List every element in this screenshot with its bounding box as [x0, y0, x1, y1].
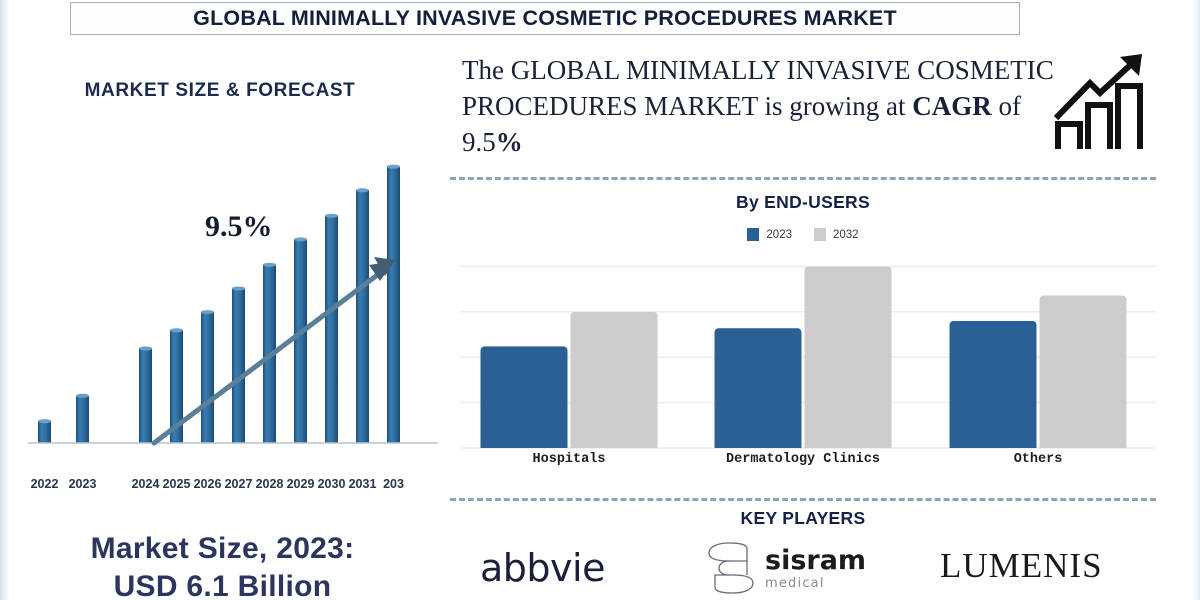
forecast-bar	[76, 396, 89, 443]
cagr-badge: 9.5%	[205, 210, 273, 244]
infographic-canvas: GLOBAL MINIMALLY INVASIVE COSMETIC PROCE…	[0, 0, 1200, 600]
legend-label: 2032	[833, 229, 859, 241]
key-players-heading: KEY PLAYERS	[450, 508, 1156, 529]
category-label: Others	[918, 452, 1158, 467]
end-users-legend: 20232032	[450, 228, 1156, 241]
forecast-bar	[325, 216, 338, 443]
legend-swatch	[814, 228, 826, 241]
end-users-bar-body	[950, 327, 1037, 448]
end-users-category-labels: HospitalsDermatology ClinicsOthers	[460, 452, 1156, 476]
sisram-subtitle: medical	[765, 577, 866, 590]
divider-bottom	[450, 498, 1156, 501]
lumenis-logo: LUMENIS	[940, 546, 1103, 586]
year-axis-label: 2029	[285, 477, 317, 491]
category-label: Hospitals	[449, 452, 689, 467]
sisram-mark-icon	[705, 540, 757, 596]
forecast-bar-cap	[170, 328, 183, 332]
forecast-bar	[387, 167, 400, 443]
sisram-logo: sisram medical	[705, 540, 866, 596]
end-users-bar-body	[805, 273, 892, 448]
legend-item[interactable]: 2023	[747, 228, 792, 241]
market-size-value: USD 6.1 Billion	[0, 568, 445, 600]
forecast-bar	[201, 312, 214, 443]
headline-cagr-emphasis: CAGR	[912, 91, 992, 121]
legend-label: 2023	[766, 229, 792, 241]
legend-item[interactable]: 2032	[814, 228, 859, 241]
forecast-bar	[356, 190, 369, 443]
year-axis-label: 2027	[223, 477, 255, 491]
forecast-bar-cap	[325, 214, 338, 218]
end-users-bar-body	[715, 334, 802, 448]
end-users-chart	[460, 248, 1156, 453]
forecast-bar-cap	[356, 188, 369, 192]
legend-swatch	[747, 228, 759, 241]
year-axis-label: 2028	[254, 477, 286, 491]
forecast-bar	[38, 421, 51, 443]
market-size-forecast-chart	[14, 125, 444, 455]
year-axis-label: 2031	[347, 477, 379, 491]
year-axis-label: 2025	[161, 477, 193, 491]
market-size-panel: MARKET SIZE & FORECAST	[0, 40, 450, 600]
sisram-name: sisram	[765, 547, 866, 574]
end-users-bar-body	[1040, 302, 1127, 448]
divider-top	[450, 177, 1156, 180]
year-axis-label: 2030	[316, 477, 348, 491]
forecast-bar-cap	[139, 346, 152, 350]
market-size-heading: MARKET SIZE & FORECAST	[0, 80, 440, 102]
forecast-bar-cap	[263, 263, 276, 267]
year-axis-label: 2026	[192, 477, 224, 491]
forecast-bar-cap	[387, 165, 400, 169]
forecast-bar-cap	[201, 310, 214, 314]
end-users-bars-svg	[460, 248, 1156, 453]
year-axis-label: 2022	[29, 477, 61, 491]
right-panel: The GLOBAL MINIMALLY INVASIVE COSMETIC P…	[450, 40, 1200, 600]
year-axis-label: 2024	[130, 477, 162, 491]
year-axis-labels: 2022202320242025202620272028202920302031…	[14, 477, 450, 499]
forecast-bar	[232, 288, 245, 443]
end-users-heading: By END-USERS	[450, 192, 1156, 213]
forecast-bar-cap	[232, 286, 245, 290]
market-size-callout: Market Size, 2023: USD 6.1 Billion	[0, 530, 445, 600]
lumenis-name: LUMENIS	[940, 546, 1103, 585]
end-users-bar-body	[571, 318, 658, 448]
headline-percent-emphasis: %	[496, 127, 523, 157]
year-axis-label: 203	[378, 477, 410, 491]
forecast-bars-svg	[14, 125, 444, 455]
market-size-label: Market Size, 2023:	[0, 530, 445, 568]
page-title: GLOBAL MINIMALLY INVASIVE COSMETIC PROCE…	[193, 6, 897, 31]
forecast-bar	[139, 348, 152, 443]
title-banner: GLOBAL MINIMALLY INVASIVE COSMETIC PROCE…	[70, 2, 1020, 35]
key-players-logos: abbvie sisram medical LUMENIS	[450, 538, 1156, 600]
bar-chart-growth-icon	[1050, 50, 1160, 155]
forecast-bar-cap	[76, 394, 89, 398]
forecast-bar-cap	[38, 419, 51, 423]
forecast-bar	[294, 239, 307, 443]
forecast-bar-cap	[294, 237, 307, 241]
headline-statement: The GLOBAL MINIMALLY INVASIVE COSMETIC P…	[462, 52, 1062, 160]
end-users-bar-body	[481, 352, 568, 448]
year-axis-label: 2023	[67, 477, 99, 491]
abbvie-logo: abbvie	[480, 546, 605, 590]
category-label: Dermatology Clinics	[683, 452, 923, 467]
